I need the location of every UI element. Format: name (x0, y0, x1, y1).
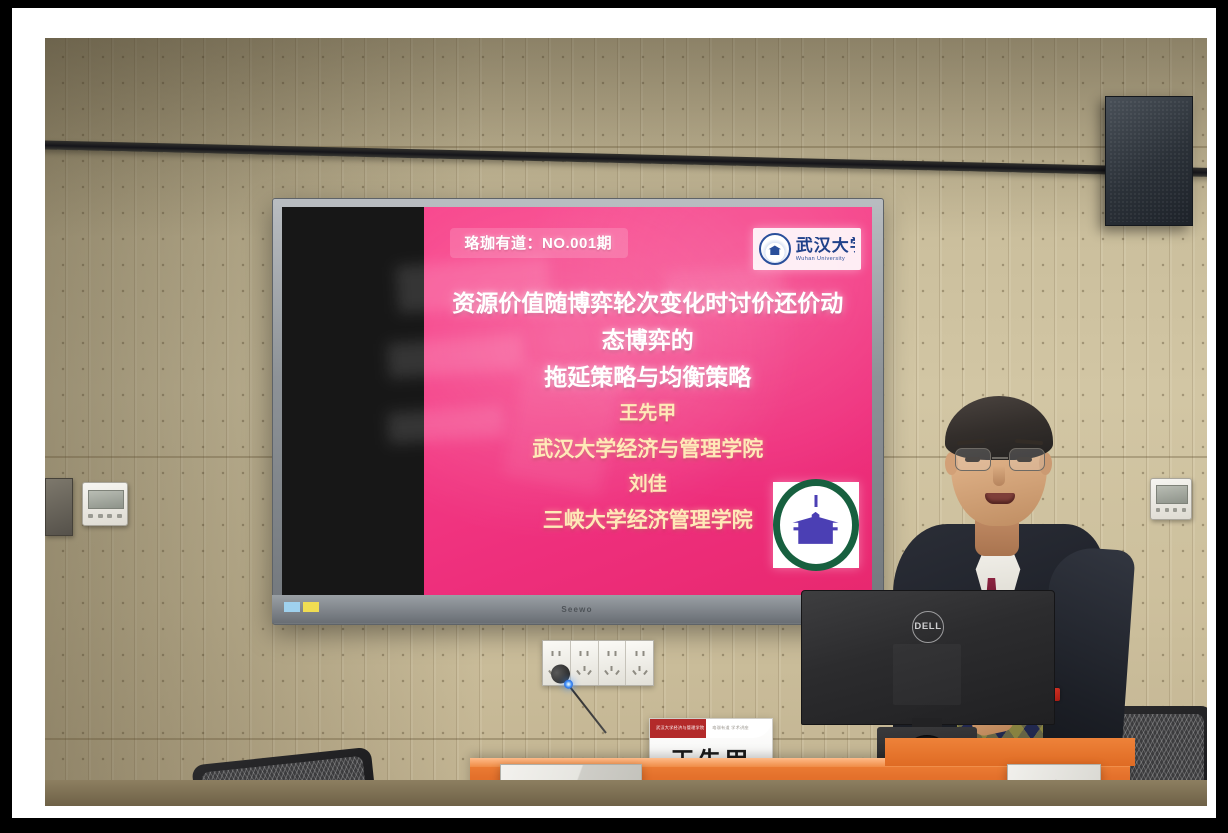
outlet-plate[interactable] (626, 641, 653, 685)
floor-strip (45, 780, 1207, 806)
presentation-slide: 珞珈有道：NO.001期 武汉大学 Wuhan University 资源价值随… (424, 207, 872, 595)
thermostat-buttons[interactable] (1156, 507, 1186, 513)
wall-speaker-icon (1105, 96, 1193, 226)
dell-logo-icon: DELL (912, 611, 944, 643)
display-sticker-blue (284, 602, 300, 612)
presenter-nose (993, 466, 1005, 486)
display-screen-area: 珞珈有道：NO.001期 武汉大学 Wuhan University 资源价值随… (282, 207, 872, 595)
nameplate-banner-left-text: 武汉大学经济与管理学院 (650, 725, 704, 731)
slide-title: 资源价值随博弈轮次变化时讨价还价动态博弈的 拖延策略与均衡策略 (442, 285, 855, 397)
wuhan-university-english-name: Wuhan University (796, 256, 855, 262)
photograph: 珞珈有道：NO.001期 武汉大学 Wuhan University 资源价值随… (45, 38, 1207, 806)
seal-gate-building (792, 512, 840, 544)
nameplate-banner-right-text: 珞珈有道 学术讲座 (704, 725, 748, 731)
monitor-vesa-plate (893, 644, 961, 705)
display-bezel-stickers (284, 602, 319, 612)
display-bottom-bezel: Seewo (272, 595, 882, 623)
wuhan-university-gate-seal (759, 233, 791, 265)
wall-utility-box (45, 478, 73, 536)
monitor-rear-shell: DELL (801, 590, 1055, 725)
slide-header-badge: 珞珈有道：NO.001期 (450, 228, 628, 258)
table-upper-panel (885, 738, 1135, 766)
slide-title-line-1: 资源价值随博弈轮次变化时讨价还价动态博弈的 (442, 285, 855, 360)
three-gorges-university-seal-icon (773, 482, 859, 568)
thermostat-panel-icon-right[interactable] (1150, 478, 1192, 520)
glasses-bridge (992, 457, 1008, 459)
speaker-grille (1109, 100, 1189, 222)
wuhan-university-wordmark: 武汉大学 Wuhan University (796, 237, 855, 262)
thermostat-buttons[interactable] (88, 512, 121, 519)
wuhan-university-seal-icon: 武汉大学 Wuhan University (753, 228, 861, 270)
nameplate-banner: 武汉大学经济与管理学院 珞珈有道 学术讲座 (650, 719, 772, 738)
photo-white-mat: 珞珈有道：NO.001期 武汉大学 Wuhan University 资源价值随… (12, 8, 1216, 818)
outlet-plate[interactable] (571, 641, 599, 685)
presenter-mouth (985, 493, 1015, 504)
display-brand-label: Seewo (561, 605, 592, 614)
wuhan-university-chinese-name: 武汉大学 (796, 237, 855, 254)
glasses-lens-right (1009, 448, 1045, 471)
glasses-lens-left (955, 448, 991, 471)
author-1-name: 王先甲 (450, 397, 845, 431)
display-sticker-yellow (303, 602, 319, 612)
outlet-plate[interactable] (599, 641, 627, 685)
thermostat-screen (88, 490, 123, 510)
thermostat-panel-icon-left[interactable] (82, 482, 128, 526)
thermostat-screen (1156, 485, 1188, 504)
interactive-flat-panel-display[interactable]: 珞珈有道：NO.001期 武汉大学 Wuhan University 资源价值随… (272, 198, 882, 623)
seal-ring (773, 479, 859, 571)
slide-title-line-2: 拖延策略与均衡策略 (442, 359, 855, 396)
author-1-affiliation: 武汉大学经济与管理学院 (450, 431, 845, 468)
photo-outer-border: 珞珈有道：NO.001期 武汉大学 Wuhan University 资源价值随… (0, 0, 1228, 833)
seal-spire (814, 495, 817, 507)
